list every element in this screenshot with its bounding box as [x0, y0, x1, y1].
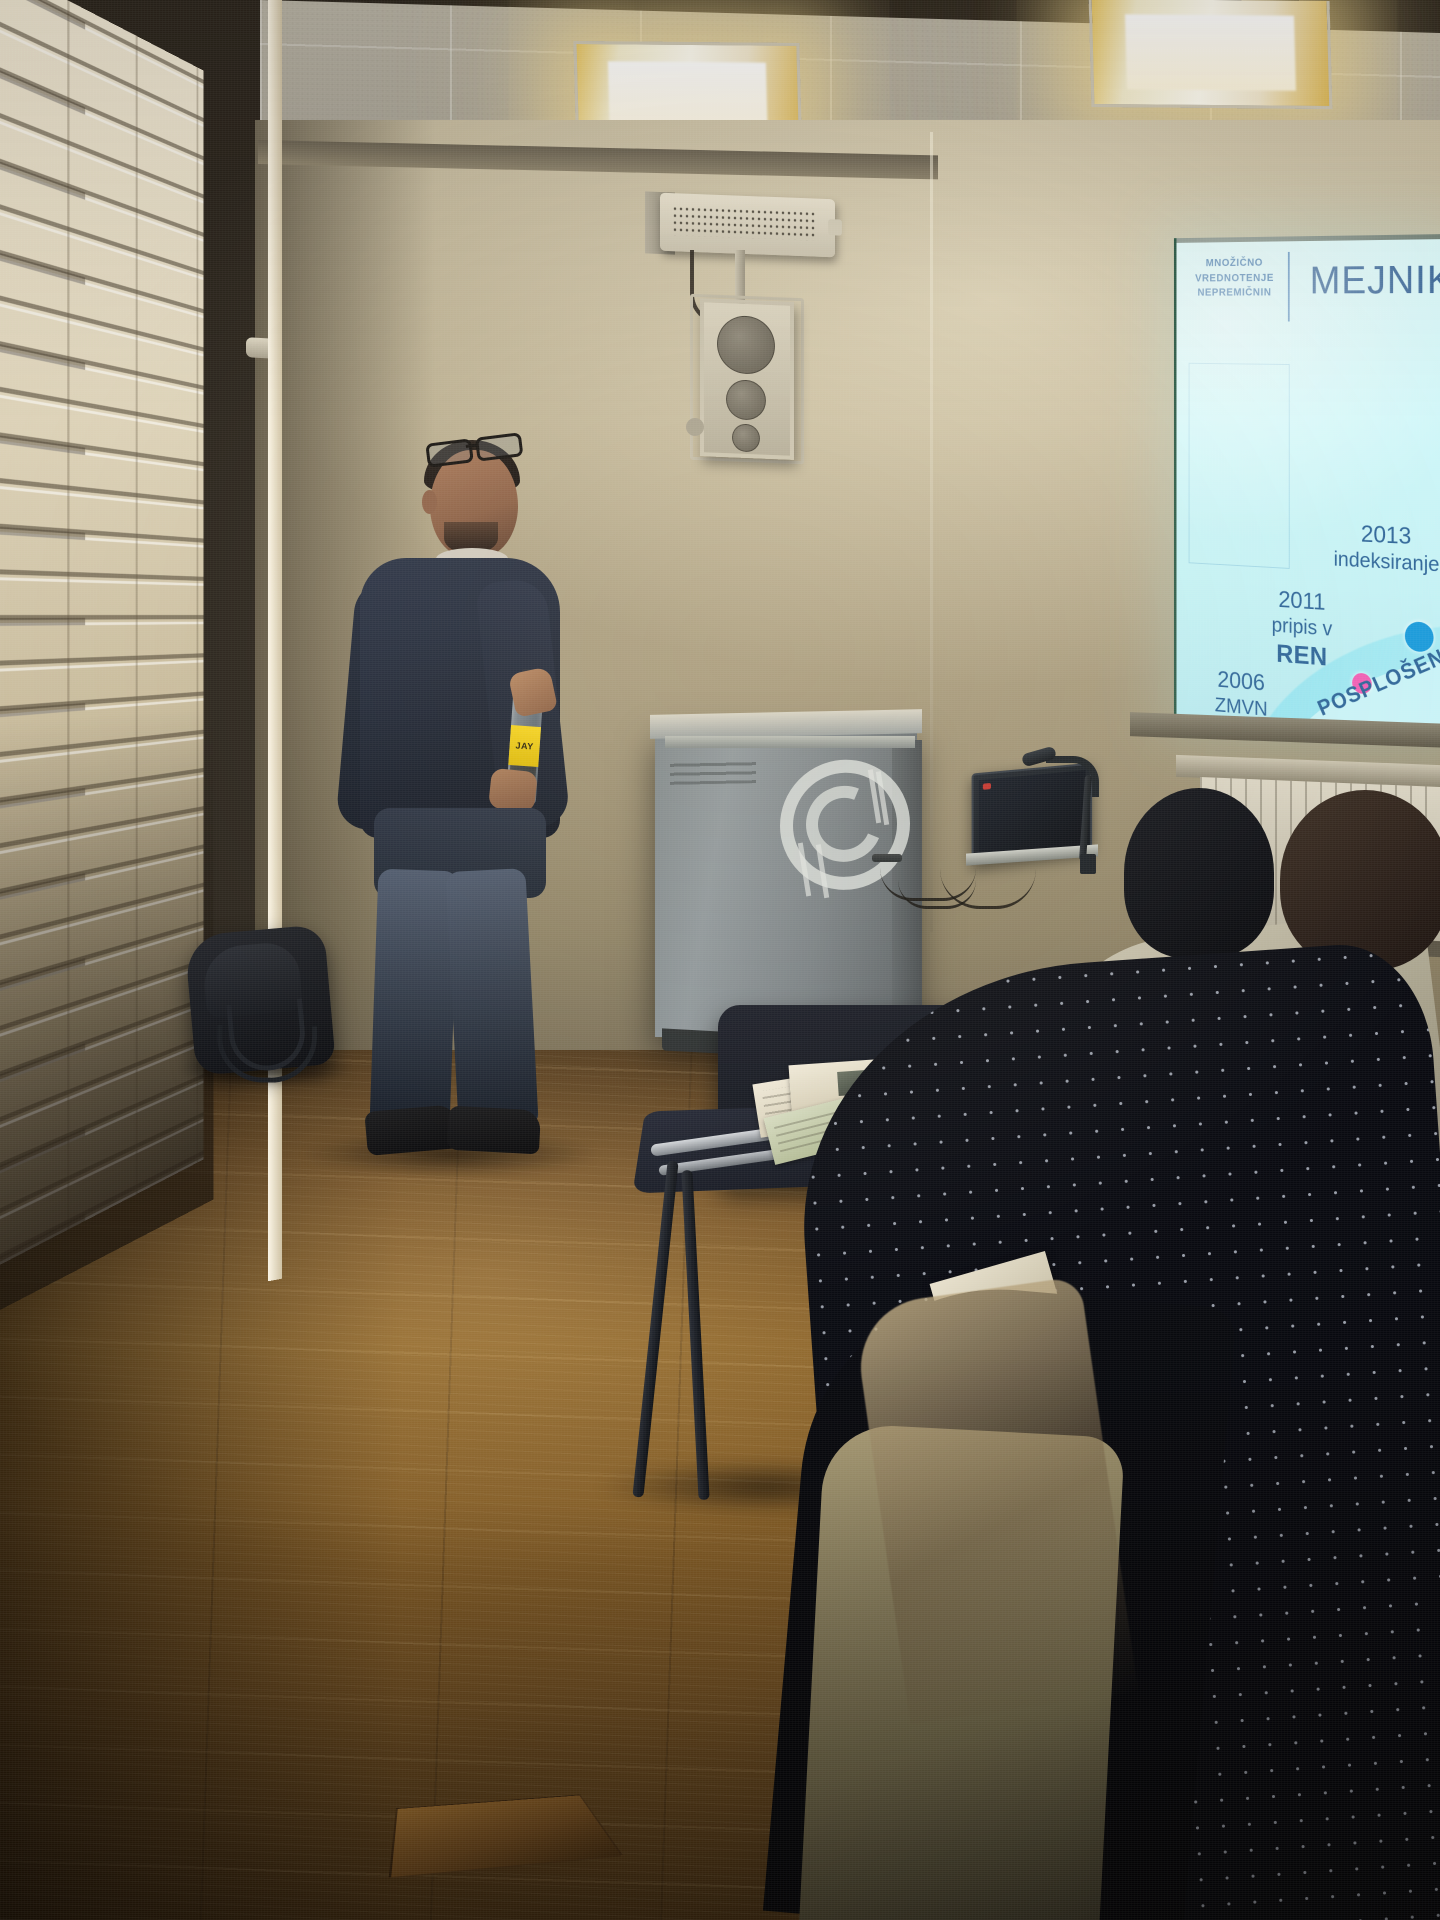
slide-org-logo-line-2: VREDNOTENJE	[1185, 271, 1284, 287]
bottle-label-text: JAY	[515, 740, 534, 751]
lectern-grooves	[670, 761, 756, 785]
slide-logo-divider	[1288, 252, 1290, 322]
slide-title: MEJNIKI MVN	[1310, 257, 1440, 303]
milestone-2011: 2011 pripis v REN	[1272, 585, 1333, 673]
slide-org-logo-line-1: MNOŽIČNO	[1185, 256, 1284, 272]
wall-corner-edge	[930, 132, 933, 932]
backpack[interactable]	[184, 924, 336, 1076]
brick-wall	[0, 0, 204, 1270]
wall-amplifier	[660, 193, 835, 258]
projection-screen: MNOŽIČNO VREDNOTENJE NEPREMIČNIN MEJNIKI…	[1174, 234, 1440, 744]
brick-relief-pattern	[0, 0, 85, 1270]
amplifier-vent-grill	[672, 205, 815, 240]
slide-org-logo: MNOŽIČNO VREDNOTENJE NEPREMIČNIN	[1185, 256, 1284, 301]
speaker-cone	[726, 379, 766, 421]
lectern-handle[interactable]	[872, 854, 902, 862]
speaker-mount-bolt	[686, 418, 704, 436]
ceiling-light-panel	[1089, 0, 1333, 109]
ceiling-light-diffuser	[1125, 14, 1296, 91]
slide-org-logo-line-3: NEPREMIČNIN	[1185, 286, 1284, 301]
milestone-2006: 2006 ZMVN	[1215, 666, 1268, 723]
presenter: JAY	[340, 430, 570, 1160]
microphone-base	[1080, 854, 1096, 874]
presenter-leg-left	[370, 869, 459, 1128]
speaker-cone	[717, 315, 775, 375]
milestone-2013: 2013 indeksiranje	[1334, 519, 1440, 579]
laptop-brand-dot-icon	[983, 783, 991, 790]
milestone-2011-label-bold: REN	[1272, 638, 1333, 673]
speaker-cone	[732, 423, 760, 452]
presenter-hand-lower	[488, 768, 538, 813]
lectern-logo	[780, 759, 888, 881]
brick-wall-edge	[268, 0, 282, 1281]
jeans-shading	[445, 868, 538, 1128]
amplifier-knob	[828, 219, 842, 236]
desk-cables	[880, 862, 1040, 932]
milestone-2011-year: 2011	[1272, 585, 1333, 617]
presenter-leg-right	[445, 868, 538, 1128]
presenter-shoe-left	[364, 1104, 459, 1156]
milestone-2013-label: indeksiranje	[1334, 547, 1440, 578]
presenter-shoe-right	[447, 1106, 541, 1155]
presenter-ear	[422, 490, 437, 514]
bottle-label: JAY	[508, 725, 541, 767]
glasses-lens-right	[475, 432, 524, 461]
attendee-head-near	[1124, 788, 1274, 958]
wall-speaker	[700, 298, 794, 460]
lectern-shelf	[665, 736, 915, 748]
lectern-foot	[662, 1028, 722, 1053]
jeans-shading	[370, 869, 459, 1128]
slide-logo-frame	[1189, 363, 1290, 569]
photo-scene: MNOŽIČNO VREDNOTENJE NEPREMIČNIN MEJNIKI…	[0, 0, 1440, 1920]
attendee-head-far	[1280, 790, 1440, 970]
milestone-2006-year: 2006	[1215, 666, 1268, 698]
